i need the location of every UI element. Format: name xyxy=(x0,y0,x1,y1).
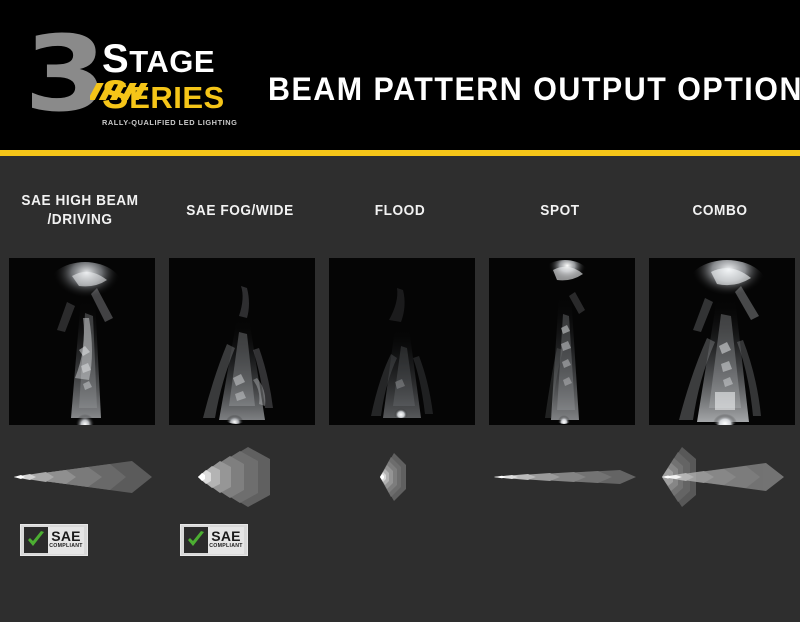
logo-wordmark: STAGE SERIES RALLY-QUALIFIED LED LIGHTIN… xyxy=(102,44,242,127)
checkmark-icon xyxy=(24,527,48,553)
column-header-label: SPOT xyxy=(491,202,628,254)
beam-photo-flood xyxy=(329,258,475,425)
beam-diagram-fog-wide xyxy=(160,442,320,512)
sae-compliant-badge: SAE COMPLIANT xyxy=(180,524,248,556)
beam-photo-spot xyxy=(489,258,635,425)
column-header-label: SAE HIGH BEAM/DRIVING xyxy=(11,192,148,244)
beam-pattern-chart: 3 STAGE SERIES RALLY-QUALIFIED LED LIGHT… xyxy=(0,0,800,622)
badge-subtitle: COMPLIANT xyxy=(49,543,83,549)
beam-diagram-spot xyxy=(480,442,640,512)
beam-diagram-flood xyxy=(320,442,480,512)
beam-photo-combo xyxy=(649,258,795,425)
checkmark-icon xyxy=(184,527,208,553)
page-title: BEAM PATTERN OUTPUT OPTIONS xyxy=(268,72,800,106)
column-header-label: FLOOD xyxy=(331,202,468,254)
logo-tagline: RALLY-QUALIFIED LED LIGHTING xyxy=(102,118,242,127)
column-header-label: SAE FOG/WIDE xyxy=(171,202,308,254)
badge-title: SAE xyxy=(211,530,240,543)
beam-diagram-driving xyxy=(0,442,160,512)
badge-subtitle: COMPLIANT xyxy=(209,543,243,549)
logo-numeral: 3 xyxy=(24,26,103,122)
column-sae-fog-wide[interactable]: SAE FOG/WIDE xyxy=(160,156,320,622)
column-flood[interactable]: FLOOD xyxy=(320,156,480,622)
badge-title: SAE xyxy=(51,530,80,543)
beam-diagram-combo xyxy=(640,442,800,512)
sae-compliant-badge: SAE COMPLIANT xyxy=(20,524,88,556)
column-sae-high-beam-driving[interactable]: SAE HIGH BEAM/DRIVING xyxy=(0,156,160,622)
logo-word-series: SERIES xyxy=(102,79,242,114)
beam-photo-driving xyxy=(9,258,155,425)
column-combo[interactable]: COMBO xyxy=(640,156,800,622)
header-bar: 3 STAGE SERIES RALLY-QUALIFIED LED LIGHT… xyxy=(0,0,800,150)
column-spot[interactable]: SPOT xyxy=(480,156,640,622)
stage-series-logo: 3 STAGE SERIES RALLY-QUALIFIED LED LIGHT… xyxy=(24,26,239,130)
beam-options-grid: SAE HIGH BEAM/DRIVING xyxy=(0,156,800,622)
column-header-label: COMBO xyxy=(651,202,788,254)
beam-photo-fog-wide xyxy=(169,258,315,425)
